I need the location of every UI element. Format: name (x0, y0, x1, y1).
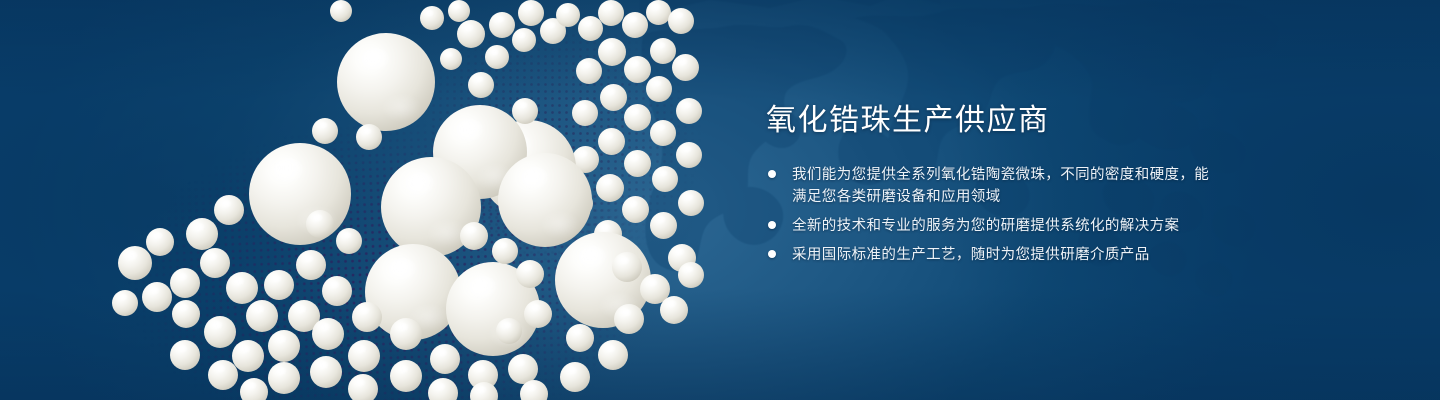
zirconia-bead (612, 252, 642, 282)
zirconia-bead (322, 276, 352, 306)
zirconia-bead (208, 360, 238, 390)
zirconia-bead (676, 98, 702, 124)
promo-banner: 氧化锆珠生产供应商 我们能为您提供全系列氧化锆陶瓷微珠，不同的密度和硬度，能满足… (0, 0, 1440, 400)
zirconia-bead (390, 318, 422, 350)
zirconia-bead (622, 12, 648, 38)
zirconia-bead (492, 238, 518, 264)
feature-bullet-text: 采用国际标准的生产工艺，随时为您提供研磨介质产品 (792, 244, 1150, 266)
zirconia-bead (496, 318, 522, 344)
zirconia-bead (596, 174, 624, 202)
zirconia-bead (556, 3, 580, 27)
bullet-dot-icon (768, 221, 776, 229)
bullet-dot-icon (768, 170, 776, 178)
zirconia-bead (390, 360, 422, 392)
zirconia-bead (306, 210, 334, 238)
zirconia-bead (678, 262, 704, 288)
zirconia-bead (524, 300, 552, 328)
feature-bullet-item: 我们能为您提供全系列氧化锆陶瓷微珠，不同的密度和硬度，能满足您各类研磨设备和应用… (764, 164, 1324, 208)
zirconia-bead (468, 72, 494, 98)
zirconia-bead (676, 142, 702, 168)
zirconia-bead (598, 340, 628, 370)
zirconia-bead (310, 356, 342, 388)
zirconia-bead (240, 378, 268, 400)
zirconia-bead (660, 296, 688, 324)
zirconia-bead (268, 330, 300, 362)
zirconia-bead (650, 38, 676, 64)
zirconia-bead (624, 150, 651, 177)
zirconia-bead (142, 282, 172, 312)
zirconia-bead (598, 128, 625, 155)
zirconia-bead (312, 118, 338, 144)
feature-bullet-list: 我们能为您提供全系列氧化锆陶瓷微珠，不同的密度和硬度，能满足您各类研磨设备和应用… (764, 164, 1324, 266)
zirconia-bead (348, 340, 380, 372)
zirconia-bead (512, 98, 538, 124)
zirconia-bead (498, 153, 592, 247)
zirconia-bead (624, 56, 651, 83)
zirconia-bead (146, 228, 174, 256)
zirconia-bead (457, 20, 485, 48)
zirconia-bead (170, 340, 200, 370)
zirconia-bead (485, 45, 509, 69)
zirconia-bead (430, 344, 460, 374)
zirconia-bead (312, 318, 344, 350)
feature-bullet-item: 采用国际标准的生产工艺，随时为您提供研磨介质产品 (764, 244, 1324, 266)
zirconia-bead (572, 100, 598, 126)
zirconia-bead (460, 222, 488, 250)
zirconia-bead (576, 58, 602, 84)
zirconia-bead (330, 0, 352, 22)
zirconia-bead (170, 268, 200, 298)
zirconia-bead (440, 48, 462, 70)
zirconia-bead (448, 0, 470, 22)
zirconia-bead (428, 378, 458, 400)
zirconia-bead (622, 196, 649, 223)
zirconia-bead (296, 250, 326, 280)
zirconia-bead (112, 290, 138, 316)
zirconia-bead (614, 304, 644, 334)
page-title: 氧化锆珠生产供应商 (766, 104, 1324, 138)
zirconia-bead (226, 272, 258, 304)
zirconia-bead (624, 104, 651, 131)
zirconia-bead (200, 248, 230, 278)
zirconia-bead (650, 120, 676, 146)
feature-bullet-text: 我们能为您提供全系列氧化锆陶瓷微珠，不同的密度和硬度，能满足您各类研磨设备和应用… (792, 164, 1212, 208)
zirconia-bead (600, 84, 627, 111)
zirconia-bead (650, 212, 677, 239)
zirconia-bead (268, 362, 300, 394)
zirconia-bead (232, 340, 264, 372)
zirconia-bead (489, 12, 515, 38)
zirconia-bead (186, 218, 218, 250)
zirconia-bead (566, 324, 594, 352)
zirconia-bead (652, 166, 678, 192)
zirconia-bead (598, 0, 624, 26)
zirconia-bead (598, 38, 626, 66)
zirconia-bead (204, 316, 236, 348)
zirconia-bead (512, 28, 536, 52)
zirconia-bead (420, 6, 444, 30)
zirconia-bead (264, 270, 294, 300)
zirconia-bead (520, 380, 548, 400)
feature-bullet-item: 全新的技术和专业的服务为您的研磨提供系统化的解决方案 (764, 215, 1324, 237)
zirconia-bead (336, 228, 362, 254)
banner-copy: 氧化锆珠生产供应商 我们能为您提供全系列氧化锆陶瓷微珠，不同的密度和硬度，能满足… (764, 104, 1324, 273)
feature-bullet-text: 全新的技术和专业的服务为您的研磨提供系统化的解决方案 (792, 215, 1179, 237)
zirconia-bead (348, 374, 378, 400)
zirconia-bead (249, 143, 351, 245)
zirconia-bead (668, 8, 694, 34)
zirconia-bead (352, 302, 382, 332)
zirconia-bead (118, 246, 152, 280)
zirconia-bead (516, 260, 544, 288)
zirconia-bead (356, 124, 382, 150)
bullet-dot-icon (768, 250, 776, 258)
zirconia-bead (337, 33, 435, 131)
zirconia-bead (646, 76, 672, 102)
zirconia-bead (678, 190, 704, 216)
zirconia-bead (246, 300, 278, 332)
zirconia-bead (672, 54, 699, 81)
zirconia-bead (214, 195, 244, 225)
zirconia-bead (518, 0, 544, 26)
zirconia-bead (560, 362, 590, 392)
zirconia-bead (172, 300, 200, 328)
